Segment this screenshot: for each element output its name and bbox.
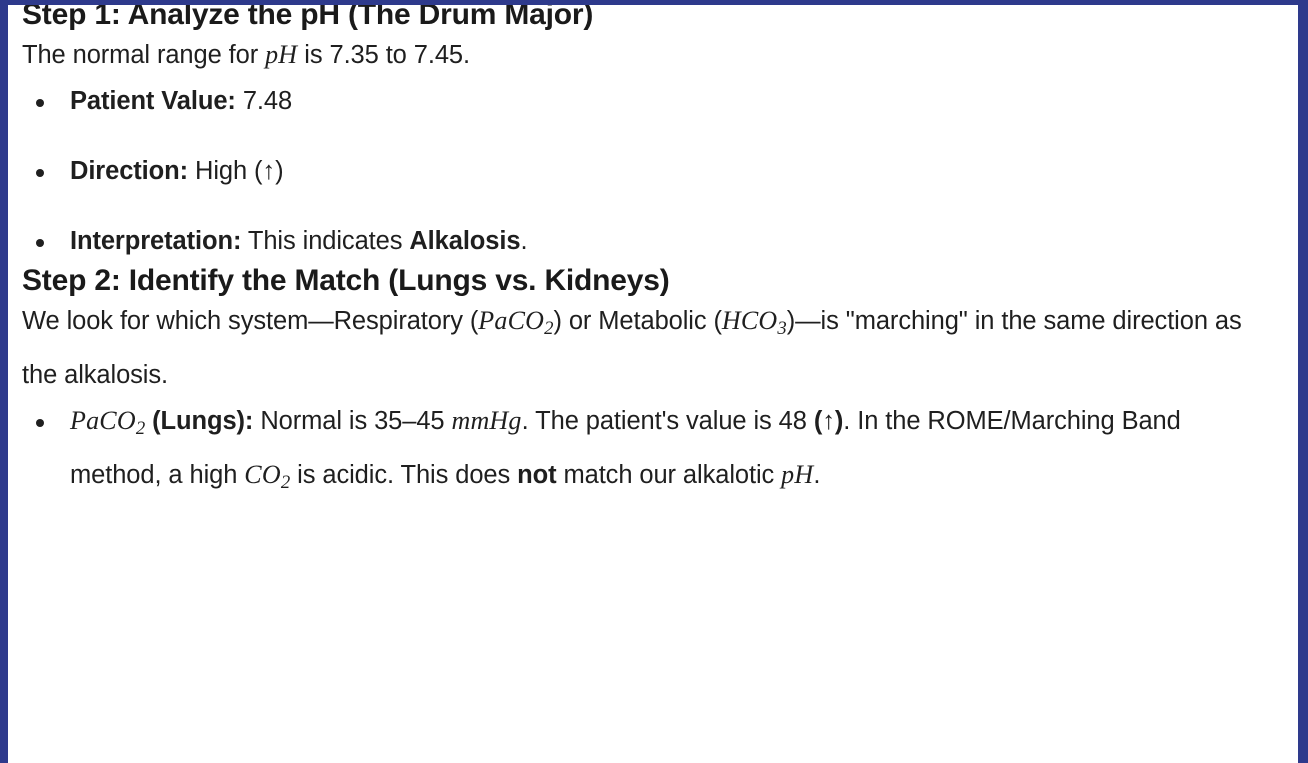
step-2-intro-paragraph: We look for which system—Respiratory (Pa…	[22, 298, 1267, 398]
step-2-bullet-list: PaCO2 (Lungs): Normal is 35–45 mmHg. The…	[22, 398, 1274, 506]
ph-math-inline-2: pH	[781, 460, 813, 489]
list-item-patient-value: Patient Value: 7.48	[22, 78, 1274, 124]
paco2-bullet-label: (Lungs):	[145, 407, 253, 435]
list-item-interpretation: Interpretation: This indicates Alkalosis…	[22, 218, 1274, 264]
paco2-direction-arrow: (↑)	[814, 407, 843, 435]
patient-value-label: Patient Value:	[70, 87, 236, 115]
direction-value: High (↑)	[188, 157, 283, 185]
step-1-intro-text-after: is 7.35 to 7.45.	[297, 41, 470, 69]
interpretation-text-pre: This indicates	[241, 227, 409, 255]
hco3-math-inline: HCO3	[722, 306, 787, 335]
step-1-heading: Step 1: Analyze the pH (The Drum Major)	[22, 5, 1274, 32]
paco2-bullet-math-base: PaCO	[70, 406, 136, 435]
direction-label: Direction:	[70, 157, 188, 185]
patient-value-value: 7.48	[236, 87, 292, 115]
ph-math-inline: pH	[265, 40, 297, 69]
co2-math-inline: CO2	[244, 460, 290, 489]
list-item-paco2-lungs: PaCO2 (Lungs): Normal is 35–45 mmHg. The…	[22, 398, 1274, 506]
list-item-direction: Direction: High (↑)	[22, 148, 1274, 194]
paco2-bullet-math: PaCO2	[70, 406, 145, 435]
step-1-bullet-list: Patient Value: 7.48 Direction: High (↑) …	[22, 78, 1274, 264]
step-2-intro-part-1: We look for which system—Respiratory (	[22, 307, 478, 335]
paco2-bullet-text-2: . The patient's value is 48	[522, 407, 814, 435]
step-2-intro-part-2: ) or Metabolic (	[553, 307, 721, 335]
co2-math-base: CO	[244, 460, 281, 489]
paco2-bullet-text-5: match our alkalotic	[556, 461, 781, 489]
paco2-bullet-text-1: Normal is 35–45	[253, 407, 451, 435]
paco2-bullet-text-6: .	[813, 461, 820, 489]
interpretation-label: Interpretation:	[70, 227, 241, 255]
paco2-bullet-math-subscript: 2	[136, 418, 145, 439]
paco2-math-base: PaCO	[478, 306, 544, 335]
interpretation-text-post: .	[520, 227, 527, 255]
interpretation-emphasis: Alkalosis	[409, 227, 520, 255]
co2-math-subscript: 2	[281, 473, 290, 494]
document-content: Step 1: Analyze the pH (The Drum Major) …	[8, 5, 1298, 763]
hco3-math-base: HCO	[722, 306, 778, 335]
step-2-heading: Step 2: Identify the Match (Lungs vs. Ki…	[22, 264, 1274, 298]
paco2-bullet-text-4: is acidic. This does	[290, 461, 517, 489]
step-1-intro-text-before: The normal range for	[22, 41, 265, 69]
paco2-math-inline: PaCO2	[478, 306, 553, 335]
mmhg-unit-math: mmHg	[451, 406, 521, 435]
document-page: Step 1: Analyze the pH (The Drum Major) …	[0, 0, 1308, 763]
hco3-math-subscript: 3	[777, 318, 786, 339]
step-1-intro-paragraph: The normal range for pH is 7.35 to 7.45.	[22, 32, 1267, 78]
paco2-negation-emphasis: not	[517, 461, 556, 489]
